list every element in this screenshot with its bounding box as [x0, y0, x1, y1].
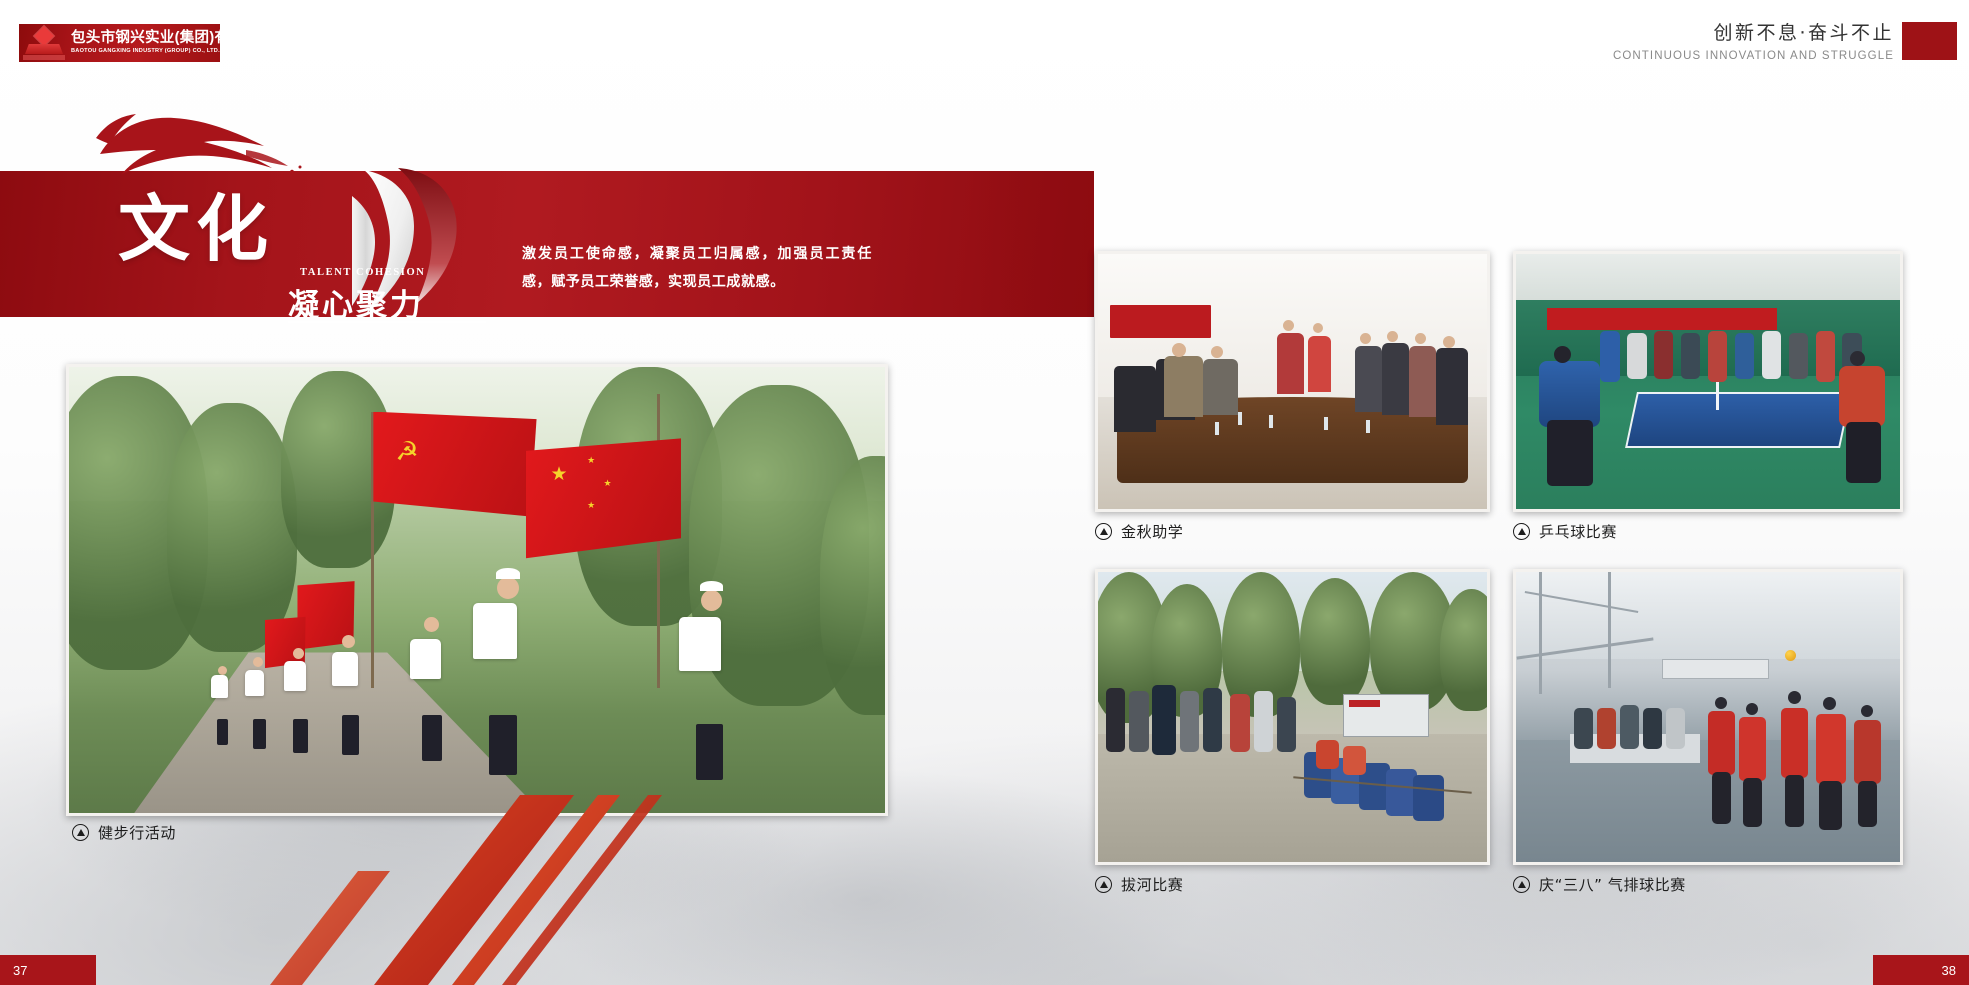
photo-autumn-scholarship[interactable]	[1095, 251, 1490, 512]
caption-text: 金秋助学	[1121, 521, 1183, 542]
caption-tug-of-war: 拔河比赛	[1095, 874, 1183, 895]
photo-volleyball[interactable]	[1513, 569, 1903, 865]
up-triangle-circle-icon	[1513, 876, 1530, 893]
up-triangle-circle-icon	[1095, 876, 1112, 893]
caption-volleyball: 庆“三八” 气排球比赛	[1513, 874, 1686, 895]
photo-table-tennis[interactable]	[1513, 251, 1903, 512]
caption-autumn-scholarship: 金秋助学	[1095, 521, 1183, 542]
up-triangle-circle-icon	[1095, 523, 1112, 540]
up-triangle-circle-icon	[1513, 523, 1530, 540]
slogan-cn: 创新不息·奋斗不止	[1613, 18, 1894, 45]
page-number-right-text: 38	[1942, 963, 1956, 978]
company-logo: 包头市钢兴实业(集团)有限公司 BAOTOU GANGXING INDUSTRY…	[19, 24, 220, 62]
header-accent-square	[1902, 22, 1957, 60]
banner-title-block: 文化	[118, 196, 274, 262]
page-number-left: 37	[0, 955, 96, 985]
caption-text: 庆“三八” 气排球比赛	[1539, 874, 1686, 895]
logo-company-en: BAOTOU GANGXING INDUSTRY (GROUP) CO., LT…	[71, 49, 220, 55]
brochure-spread: 包头市钢兴实业(集团)有限公司 BAOTOU GANGXING INDUSTRY…	[0, 0, 1969, 985]
slogan-en: CONTINUOUS INNOVATION AND STRUGGLE	[1613, 50, 1894, 62]
banner-title-cn: 文化	[118, 196, 274, 262]
page-number-right: 38	[1873, 955, 1969, 985]
up-triangle-circle-icon	[72, 824, 89, 841]
banner-title-en: TALENT COHESION	[300, 267, 425, 278]
header-slogan: 创新不息·奋斗不止 CONTINUOUS INNOVATION AND STRU…	[1613, 18, 1894, 62]
logo-company-cn: 包头市钢兴实业(集团)有限公司	[71, 31, 220, 46]
caption-text: 健步行活动	[98, 822, 176, 843]
banner-subtitle-cn: 凝心聚力	[288, 280, 424, 325]
caption-table-tennis: 乒乓球比赛	[1513, 521, 1617, 542]
banner-title-rule	[288, 321, 486, 323]
banner-body-text: 激发员工使命感，凝聚员工归属感，加强员工责任感，赋予员工荣誉感，实现员工成就感。	[522, 240, 872, 296]
diamond-mark-icon	[19, 24, 69, 62]
photo-tug-of-war[interactable]	[1095, 569, 1490, 865]
caption-walking-event: 健步行活动	[72, 822, 176, 843]
caption-text: 乒乓球比赛	[1539, 521, 1617, 542]
photo-walking-event[interactable]: ☭ ★ ★ ★ ★	[66, 364, 888, 816]
page-number-left-text: 37	[13, 963, 27, 978]
caption-text: 拔河比赛	[1121, 874, 1183, 895]
